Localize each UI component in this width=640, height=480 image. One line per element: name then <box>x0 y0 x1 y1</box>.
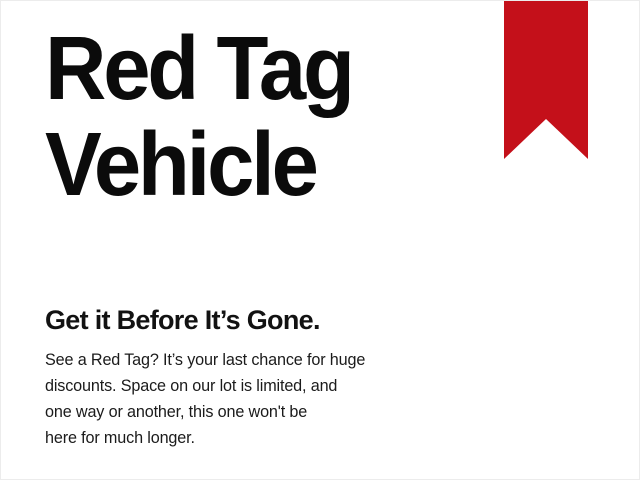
body-line-3: one way or another, this one won't be <box>45 399 405 425</box>
body-line-4: here for much longer. <box>45 425 405 451</box>
headline-line-2: Vehicle <box>45 117 451 213</box>
page-title: Red Tag Vehicle <box>45 21 451 213</box>
headline-line-1: Red Tag <box>45 21 451 117</box>
body-paragraph: See a Red Tag? It’s your last chance for… <box>45 347 405 451</box>
body-line-1: See a Red Tag? It’s your last chance for… <box>45 347 405 373</box>
red-tag-vehicle-card: Red Tag Vehicle Get it Before It’s Gone.… <box>0 0 640 480</box>
red-tag-ribbon-bookmark-icon <box>504 1 588 159</box>
subheadline: Get it Before It’s Gone. <box>45 304 320 336</box>
body-line-2: discounts. Space on our lot is limited, … <box>45 373 405 399</box>
